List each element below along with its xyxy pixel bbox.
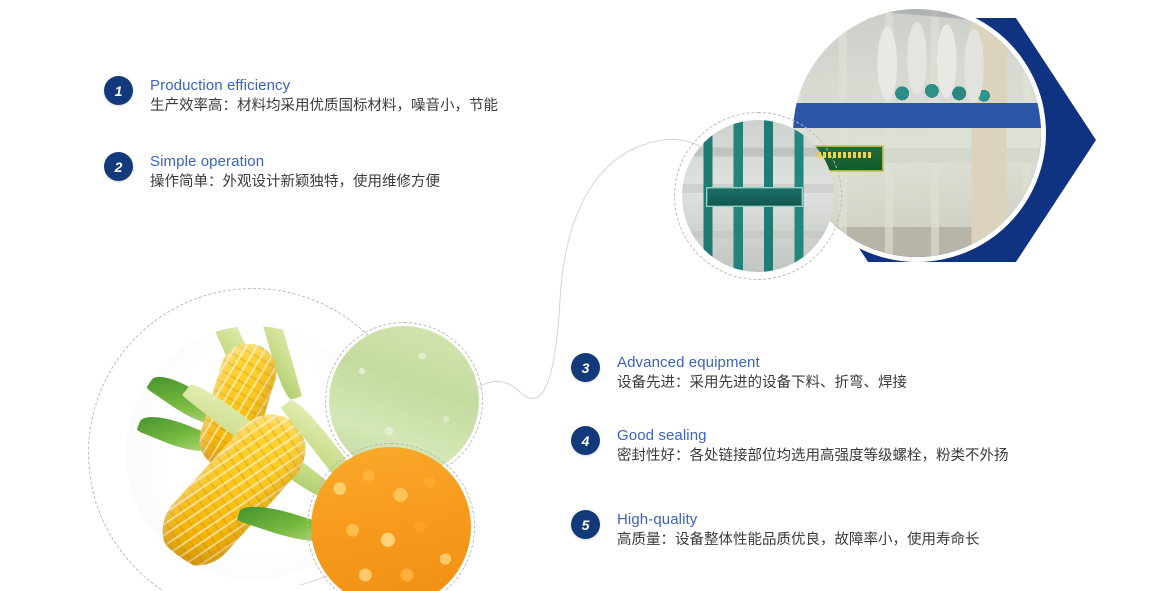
feature-item-2[interactable]: 2 Simple operation 操作简单：外观设计新颖独特，使用维修方便 — [104, 152, 440, 193]
feature-desc-4: 密封性好：各处链接部位均选用高强度等级螺栓，粉类不外扬 — [617, 445, 1009, 467]
feature-desc-1: 生产效率高：材料均采用优质国标材料，噪音小，节能 — [150, 95, 498, 117]
feature-badge-5: 5 — [571, 510, 600, 539]
feature-item-5[interactable]: 5 High-quality 高质量：设备整体性能品质优良，故障率小，使用寿命长 — [571, 510, 980, 551]
feature-title-3: Advanced equipment — [617, 353, 907, 372]
feature-text-2: Simple operation 操作简单：外观设计新颖独特，使用维修方便 — [150, 152, 440, 193]
feature-title-5: High-quality — [617, 510, 980, 529]
feature-title-4: Good sealing — [617, 426, 1009, 445]
feature-text-5: High-quality 高质量：设备整体性能品质优良，故障率小，使用寿命长 — [617, 510, 980, 551]
feature-badge-3: 3 — [571, 353, 600, 382]
feature-item-4[interactable]: 4 Good sealing 密封性好：各处链接部位均选用高强度等级螺栓，粉类不… — [571, 426, 1009, 467]
feature-title-2: Simple operation — [150, 152, 440, 171]
feature-text-3: Advanced equipment 设备先进：采用先进的设备下料、折弯、焊接 — [617, 353, 907, 394]
kernels-photo — [311, 447, 471, 591]
kernels-photo-inner — [311, 447, 471, 591]
teal-machine-photo — [682, 120, 834, 272]
feature-badge-2: 2 — [104, 152, 133, 181]
feature-badge-1: 1 — [104, 76, 133, 105]
feature-text-1: Production efficiency 生产效率高：材料均采用优质国标材料，… — [150, 76, 498, 117]
feature-desc-2: 操作简单：外观设计新颖独特，使用维修方便 — [150, 171, 440, 193]
feature-title-1: Production efficiency — [150, 76, 498, 95]
feature-text-4: Good sealing 密封性好：各处链接部位均选用高强度等级螺栓，粉类不外扬 — [617, 426, 1009, 467]
teal-machine-photo-inner — [682, 120, 834, 272]
infographic-canvas: 1 Production efficiency 生产效率高：材料均采用优质国标材… — [0, 0, 1154, 591]
feature-desc-5: 高质量：设备整体性能品质优良，故障率小，使用寿命长 — [617, 529, 980, 551]
feature-desc-3: 设备先进：采用先进的设备下料、折弯、焊接 — [617, 372, 907, 394]
feature-item-1[interactable]: 1 Production efficiency 生产效率高：材料均采用优质国标材… — [104, 76, 498, 117]
feature-badge-4: 4 — [571, 426, 600, 455]
feature-item-3[interactable]: 3 Advanced equipment 设备先进：采用先进的设备下料、折弯、焊… — [571, 353, 907, 394]
